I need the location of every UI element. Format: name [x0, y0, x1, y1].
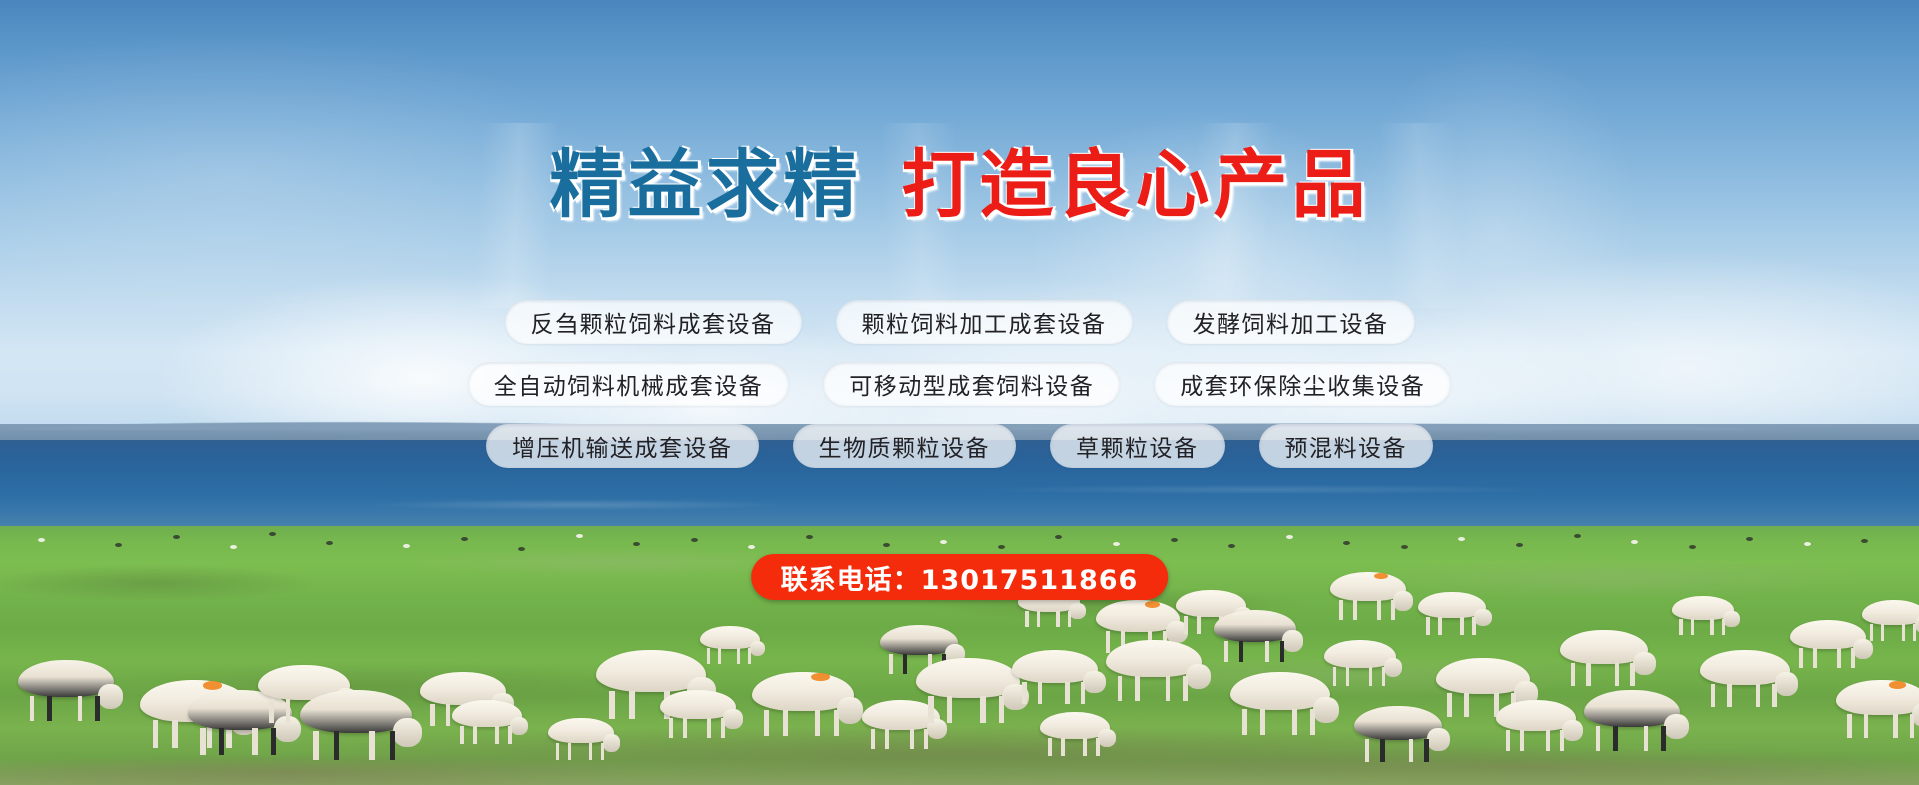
headline-blue-text: 精益求精: [550, 142, 862, 228]
product-tag[interactable]: 反刍颗粒饲料成套设备: [505, 300, 802, 344]
product-tag[interactable]: 发酵饲料加工设备: [1167, 300, 1415, 344]
headline: 精益求精打造良心产品: [0, 148, 1919, 222]
product-tag-list: 反刍颗粒饲料成套设备颗粒饲料加工成套设备发酵饲料加工设备全自动饲料机械成套设备可…: [0, 300, 1919, 486]
product-tag[interactable]: 预混料设备: [1259, 424, 1434, 468]
product-tag-row: 全自动饲料机械成套设备可移动型成套饲料设备成套环保除尘收集设备: [0, 362, 1919, 406]
product-tag[interactable]: 生物质颗粒设备: [793, 424, 1017, 468]
contact-phone-badge[interactable]: 联系电话：13017511866: [751, 554, 1169, 600]
product-tag[interactable]: 草颗粒设备: [1050, 424, 1225, 468]
product-tag-row: 反刍颗粒饲料成套设备颗粒饲料加工成套设备发酵饲料加工设备: [0, 300, 1919, 344]
product-tag[interactable]: 可移动型成套饲料设备: [823, 362, 1120, 406]
headline-red-text: 打造良心产品: [902, 142, 1370, 228]
product-tag[interactable]: 增压机输送成套设备: [486, 424, 759, 468]
product-tag[interactable]: 全自动饲料机械成套设备: [468, 362, 790, 406]
promo-banner: 精益求精打造良心产品 反刍颗粒饲料成套设备颗粒饲料加工成套设备发酵饲料加工设备全…: [0, 0, 1919, 785]
product-tag-row: 增压机输送成套设备生物质颗粒设备草颗粒设备预混料设备: [0, 424, 1919, 468]
product-tag[interactable]: 成套环保除尘收集设备: [1154, 362, 1451, 406]
product-tag[interactable]: 颗粒饲料加工成套设备: [836, 300, 1133, 344]
